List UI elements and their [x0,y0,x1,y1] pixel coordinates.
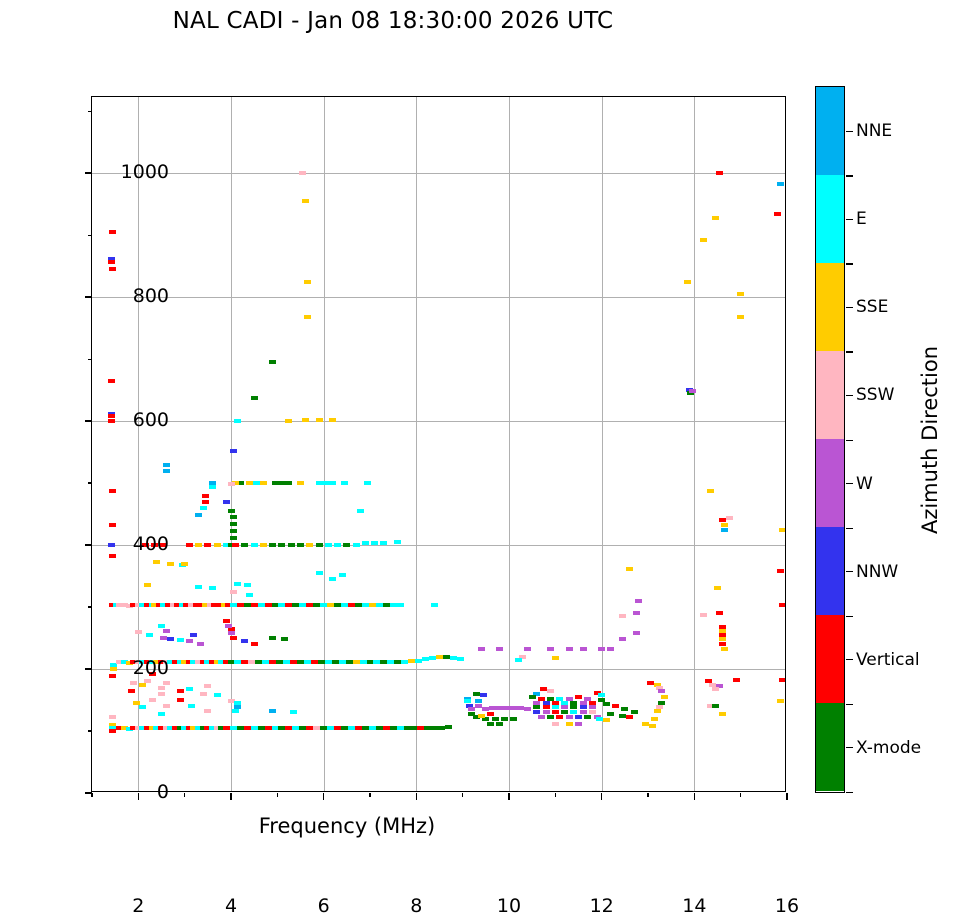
data-mark [362,541,369,545]
y-tick-mark [85,792,92,794]
data-mark [214,693,221,697]
data-mark [204,709,211,713]
data-mark [329,577,336,581]
data-mark [278,543,285,547]
data-mark [327,603,334,607]
data-mark [272,603,279,607]
x-tick-label-16: 16 [775,895,799,917]
data-mark [524,647,531,651]
data-mark [244,583,251,587]
data-mark [726,516,733,520]
data-mark [297,660,304,664]
data-mark [417,726,424,730]
data-mark [302,199,309,203]
data-mark [700,238,707,242]
data-mark [570,710,577,714]
data-mark [195,543,202,547]
data-mark [369,603,376,607]
colorbar-segment-nnw [816,527,844,615]
x-tick-mark [323,793,325,800]
data-mark [589,705,596,709]
data-mark [510,717,517,721]
data-mark [158,686,165,690]
colorbar-label-nne: NNE [856,121,892,141]
data-mark [473,692,480,696]
data-mark [109,230,116,234]
y-tick-label-0: 0 [157,781,169,803]
data-mark [276,660,283,664]
colorbar-label-vertical: Vertical [856,650,920,670]
data-mark [346,660,353,664]
data-mark [262,660,269,664]
data-mark [633,611,640,615]
data-mark [109,489,116,493]
x-minor-tick [555,793,556,797]
data-mark [387,660,394,664]
data-mark [139,705,146,709]
colorbar-tick [846,747,853,749]
data-mark [260,481,267,485]
data-mark [135,630,142,634]
data-mark [253,481,260,485]
data-mark [510,706,517,710]
data-mark [612,704,619,708]
colorbar-segment-vertical [816,615,844,703]
data-mark [487,722,494,726]
data-mark [376,603,383,607]
data-mark [712,704,719,708]
data-mark [241,543,248,547]
data-mark [202,494,209,498]
data-mark [228,482,235,486]
data-mark [415,659,422,663]
data-mark [774,212,781,216]
y-tick-mark [85,296,92,298]
data-mark [401,660,408,664]
x-tick-label-8: 8 [410,895,422,917]
data-mark [552,710,559,714]
data-mark [343,543,350,547]
data-mark [779,678,785,682]
colorbar-segment-e [816,175,844,263]
data-mark [353,543,360,547]
data-mark [285,419,292,423]
data-mark [327,726,334,730]
data-mark [186,543,193,547]
data-mark [721,647,728,651]
data-mark [619,714,626,718]
data-mark [404,726,411,730]
data-mark [348,603,355,607]
data-mark [547,689,554,693]
colorbar-label-nnw: NNW [856,562,898,582]
data-mark [190,633,197,637]
data-mark [631,710,638,714]
data-mark [251,396,258,400]
data-mark [278,603,285,607]
data-mark [290,710,297,714]
data-mark [281,637,288,641]
data-mark [524,707,531,711]
y-tick-mark [85,172,92,174]
data-mark [108,543,115,547]
data-mark [163,463,170,467]
data-mark [299,726,306,730]
data-mark [320,726,327,730]
data-mark [339,660,346,664]
data-mark [108,260,115,264]
data-mark [153,560,160,564]
data-mark [325,543,332,547]
data-mark [269,360,276,364]
x-tick-label-2: 2 [132,895,144,917]
x-tick-mark [138,793,140,800]
data-mark [438,726,445,730]
data-mark [230,449,237,453]
data-mark [689,389,696,393]
data-mark [779,603,785,607]
data-mark [200,506,207,510]
colorbar-boundary-tick [846,704,853,705]
data-mark [128,689,135,693]
data-mark [737,292,744,296]
data-mark [716,171,723,175]
data-mark [429,656,436,660]
data-mark [209,485,216,489]
data-mark [304,660,311,664]
data-mark [598,647,605,651]
data-mark [408,659,415,663]
data-mark [186,687,193,691]
plot-area: 246810121416 [91,96,786,792]
data-mark [450,656,457,660]
data-mark [163,681,170,685]
x-tick-mark [786,793,788,800]
data-mark [195,585,202,589]
data-mark [737,315,744,319]
data-mark [288,543,295,547]
data-mark [394,540,401,544]
y-minor-tick [88,111,92,112]
colorbar-tick [846,483,853,485]
data-mark [552,722,559,726]
data-mark [230,636,237,640]
colorbar-label-ssw: SSW [856,385,894,405]
data-mark [373,660,380,664]
data-mark [721,528,728,532]
data-mark [552,656,559,660]
data-mark [163,704,170,708]
data-mark [649,724,656,728]
data-mark [633,631,640,635]
data-mark [475,704,482,708]
x-tick-mark [508,793,510,800]
data-mark [269,709,276,713]
data-mark [167,637,174,641]
data-mark [496,706,503,710]
data-mark [584,715,591,719]
data-mark [496,722,503,726]
data-mark [431,603,438,607]
data-mark [339,573,346,577]
data-mark [278,726,285,730]
data-mark [329,418,336,422]
data-mark [647,681,654,685]
data-mark [661,695,668,699]
data-mark [626,567,633,571]
data-mark [109,729,116,733]
data-mark [329,481,336,485]
data-mark [422,657,429,661]
data-mark [163,629,170,633]
colorbar-tick [846,219,853,221]
data-mark [202,500,209,504]
data-mark [570,705,577,709]
data-mark [383,603,390,607]
data-mark [241,660,248,664]
data-mark [230,529,237,533]
data-mark [200,692,207,696]
chart-title: NAL CADI - Jan 08 18:30:00 2026 UTC [0,8,786,34]
data-mark [258,603,265,607]
data-mark [445,725,452,729]
data-mark [380,660,387,664]
data-mark [230,536,237,540]
data-mark [334,543,341,547]
colorbar-tick [846,131,853,133]
y-tick-mark [85,420,92,422]
data-mark [244,603,251,607]
data-mark [297,481,304,485]
data-mark [248,660,255,664]
data-mark [285,481,292,485]
data-mark [260,543,267,547]
data-mark [214,543,221,547]
data-mark [109,523,116,527]
colorbar-label-w: W [856,474,873,494]
x-tick-label-4: 4 [225,895,237,917]
y-tick-mark [85,668,92,670]
data-mark [642,722,649,726]
data-mark [712,687,719,691]
data-mark [580,710,587,714]
data-mark [306,726,313,730]
data-mark [144,679,151,683]
data-mark [719,642,726,646]
data-mark [144,583,151,587]
data-mark [149,698,156,702]
data-mark [487,712,494,716]
data-mark [177,698,184,702]
x-tick-label-6: 6 [318,895,330,917]
data-mark [197,642,204,646]
x-tick-mark [230,793,232,800]
data-mark [108,379,115,383]
data-mark [475,699,482,703]
data-mark [204,543,211,547]
data-mark [580,705,587,709]
data-mark [411,726,418,730]
data-mark [223,619,230,623]
data-mark [130,681,137,685]
data-mark [230,726,237,730]
data-mark [478,647,485,651]
data-mark [607,647,614,651]
data-mark [533,710,540,714]
data-mark [503,706,510,710]
data-mark [700,613,707,617]
data-mark [109,715,116,719]
data-mark [501,717,508,721]
data-mark [246,593,253,597]
data-mark [547,715,554,719]
data-mark [225,624,232,628]
data-mark [316,481,323,485]
y-minor-tick [88,235,92,236]
y-tick-label-600: 600 [133,409,169,431]
data-mark [547,647,554,651]
data-mark [278,481,285,485]
data-mark [383,726,390,730]
x-tick-mark [601,793,603,800]
x-tick-label-14: 14 [682,895,706,917]
data-mark [292,603,299,607]
data-mark [311,660,318,664]
data-mark [529,695,536,699]
data-mark [332,660,339,664]
colorbar-tick [846,659,853,661]
data-mark [228,699,235,703]
data-mark [492,717,499,721]
data-mark [598,693,605,697]
colorbar-boundary-tick [846,616,853,617]
data-mark [561,710,568,714]
data-mark [777,699,784,703]
data-mark [283,660,290,664]
data-mark [228,509,235,513]
x-minor-tick [740,793,741,797]
colorbar-title: Azimuth Direction [918,346,942,534]
data-mark [635,599,642,603]
x-minor-tick [277,793,278,797]
data-mark [621,707,628,711]
data-mark [234,660,241,664]
data-mark [380,541,387,545]
data-mark [299,171,306,175]
data-mark [360,660,367,664]
data-mark [619,614,626,618]
data-mark [566,722,573,726]
colorbar-boundary-tick [846,175,853,176]
data-mark [431,726,438,730]
x-minor-tick [462,793,463,797]
data-mark [341,726,348,730]
data-mark [357,509,364,513]
colorbar [815,86,845,793]
data-mark [304,315,311,319]
data-mark [707,489,714,493]
data-mark [580,647,587,651]
data-mark [607,712,614,716]
data-mark [397,726,404,730]
y-tick-label-1000: 1000 [121,161,169,183]
colorbar-segment-x-mode [816,703,844,791]
data-mark [603,702,610,706]
data-mark [540,687,547,691]
data-mark [390,726,397,730]
data-mark [719,712,726,716]
data-mark [146,633,153,637]
data-mark [779,528,785,532]
data-mark [369,726,376,730]
data-mark [158,624,165,628]
data-mark [230,603,237,607]
data-mark [133,701,140,705]
data-mark [108,419,115,423]
data-mark [371,541,378,545]
colorbar-label-sse: SSE [856,297,888,317]
data-mark [496,647,503,651]
data-mark [109,674,116,678]
data-mark [619,637,626,641]
data-mark [364,481,371,485]
data-mark [320,603,327,607]
data-mark [543,705,550,709]
data-mark [269,636,276,640]
data-mark [313,603,320,607]
colorbar-boundary-tick [846,263,853,264]
x-tick-label-10: 10 [497,895,521,917]
data-mark [561,705,568,709]
data-mark [596,717,603,721]
data-mark [394,660,401,664]
colorbar-segment-w [816,439,844,527]
data-mark [316,543,323,547]
data-mark [712,216,719,220]
data-mark [777,569,784,573]
x-minor-tick [647,793,648,797]
data-marks-layer [92,97,785,791]
y-tick-mark [85,544,92,546]
data-mark [376,726,383,730]
colorbar-boundary-tick [846,351,853,352]
data-mark [651,717,658,721]
data-mark [265,726,272,730]
data-mark [478,714,485,718]
data-mark [163,469,170,473]
data-mark [292,726,299,730]
colorbar-label-e: E [856,209,867,229]
data-mark [658,689,665,693]
data-mark [232,543,239,547]
data-mark [109,267,116,271]
colorbar-boundary-tick [846,792,853,793]
colorbar-tick [846,307,853,309]
data-mark [341,481,348,485]
data-mark [186,639,193,643]
data-mark [223,726,230,730]
data-mark [719,637,726,641]
y-minor-tick [88,359,92,360]
data-mark [367,660,374,664]
data-mark [285,603,292,607]
colorbar-segment-sse [816,263,844,351]
data-mark [244,726,251,730]
data-mark [251,603,258,607]
data-mark [316,571,323,575]
data-mark [228,660,235,664]
data-mark [265,603,272,607]
